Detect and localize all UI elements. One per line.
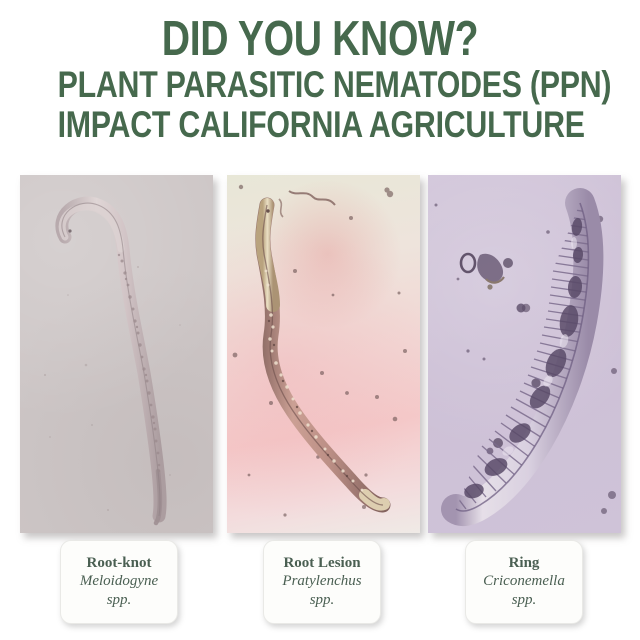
caption-species-abbr: spp. — [107, 591, 132, 610]
caption-species-abbr: spp. — [512, 591, 537, 610]
caption-row: Root-knot Meloidogyne spp. Root Lesion P… — [0, 540, 640, 640]
caption-species-abbr: spp. — [310, 591, 335, 610]
caption-card-root-lesion: Root Lesion Pratylenchus spp. — [263, 540, 381, 624]
subtitle-line-2: IMPACT CALIFORNIA AGRICULTURE — [58, 105, 583, 144]
caption-common-name: Ring — [509, 554, 540, 572]
subtitle-line-1: PLANT PARASITIC NEMATODES (PPN) — [58, 65, 583, 104]
caption-card-ring: Ring Criconemella spp. — [465, 540, 583, 624]
caption-genus-name: Pratylenchus — [282, 572, 361, 591]
caption-common-name: Root Lesion — [283, 554, 360, 572]
root-knot-nematode-micrograph — [20, 175, 213, 533]
panel-ring-image — [428, 175, 621, 533]
root-lesion-nematode-micrograph — [227, 175, 420, 533]
caption-genus-name: Meloidogyne — [80, 572, 158, 591]
caption-card-root-knot: Root-knot Meloidogyne spp. — [60, 540, 178, 624]
caption-common-name: Root-knot — [86, 554, 151, 572]
caption-genus-name: Criconemella — [483, 572, 565, 591]
panel-root-lesion-image — [227, 175, 420, 533]
page-title: DID YOU KNOW? — [64, 13, 576, 65]
nematode-image-row — [0, 175, 640, 535]
infographic-root: { "heading": { "line1": "DID YOU KNOW?",… — [0, 0, 640, 640]
heading-block: DID YOU KNOW? PLANT PARASITIC NEMATODES … — [0, 0, 640, 144]
panel-root-knot-image — [20, 175, 213, 533]
ring-nematode-micrograph — [428, 175, 621, 533]
